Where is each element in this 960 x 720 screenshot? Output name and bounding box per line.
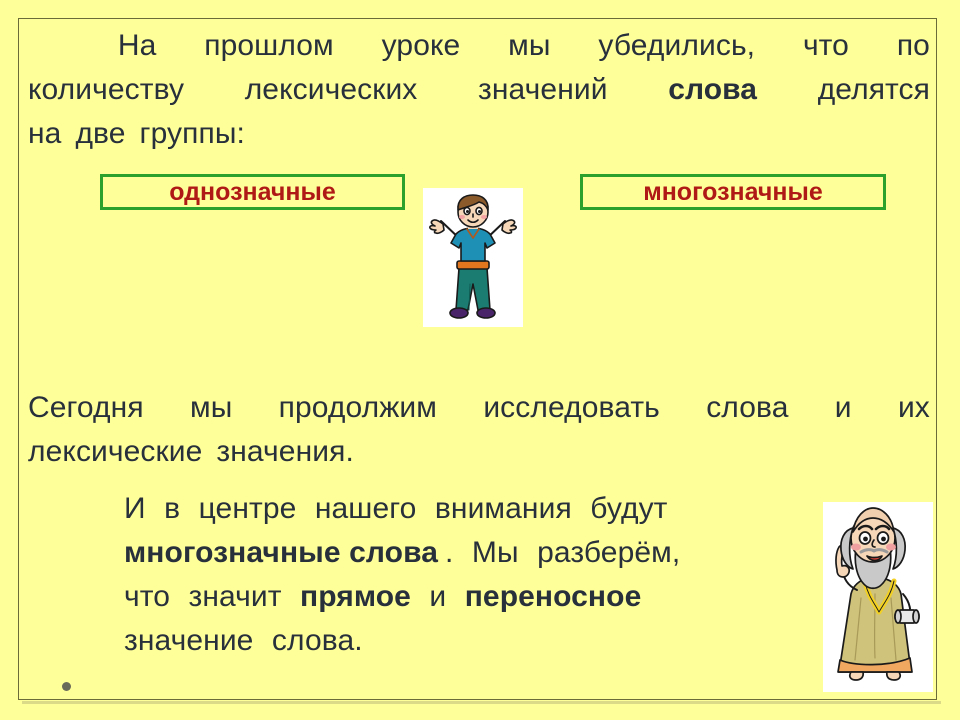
word: прошлом — [204, 24, 334, 68]
focus-line-3: что значит прямое и переносное — [124, 575, 814, 619]
intro-paragraph: На прошлом уроке мы убедились, что по ко… — [28, 24, 930, 156]
today-paragraph: Сегодня мы продолжим исследовать слова и… — [28, 386, 930, 474]
word: и — [835, 386, 852, 430]
word: будут — [590, 492, 667, 525]
keyword-perenosnoe: переносное — [465, 580, 642, 613]
greek-philosopher-illustration — [823, 502, 933, 692]
word: слова — [706, 386, 788, 430]
word: уроке — [382, 24, 461, 68]
word: и — [429, 580, 446, 613]
word: по — [897, 24, 930, 68]
keyword-mnogoznachnye-slova: многозначные слова — [124, 536, 438, 569]
word: две — [75, 112, 125, 156]
intro-line-2: количеству лексических значений слова де… — [28, 68, 930, 112]
word: мы — [508, 24, 550, 68]
word: значений — [478, 68, 608, 112]
term-box-odnoznachnye[interactable]: однозначные — [100, 174, 405, 210]
word: значения. — [216, 430, 353, 474]
word: слова. — [272, 624, 363, 657]
focus-line-2: многозначные слова. Мы разберём, — [124, 531, 814, 575]
today-line-2: лексические значения. — [28, 430, 930, 474]
bullet-dot — [62, 682, 71, 691]
first-line-indent — [28, 24, 70, 68]
word: внимания — [435, 492, 572, 525]
slide: На прошлом уроке мы убедились, что по ко… — [0, 0, 960, 720]
word: убедились, — [598, 24, 755, 68]
word: лексических — [245, 68, 418, 112]
intro-line-3: на две группы: — [28, 112, 930, 156]
word: Мы — [472, 536, 519, 569]
slide-frame-shadow — [22, 701, 941, 704]
word: исследовать — [483, 386, 660, 430]
word: центре — [199, 492, 297, 525]
word: в — [164, 492, 180, 525]
focus-line-1: И в центре нашего внимания будут — [124, 487, 814, 531]
word: Сегодня — [28, 386, 144, 430]
word: значит — [188, 580, 281, 613]
word: что — [803, 24, 849, 68]
word: И — [124, 492, 146, 525]
period: . — [445, 536, 453, 569]
word: значение — [124, 624, 253, 657]
word: На — [118, 24, 157, 68]
word: группы: — [140, 112, 245, 156]
focus-line-4: значение слова. — [124, 619, 814, 663]
word: количеству — [28, 68, 184, 112]
word: продолжим — [279, 386, 437, 430]
today-line-1: Сегодня мы продолжим исследовать слова и… — [28, 386, 930, 430]
word: что — [124, 580, 170, 613]
keyword-pryamoe: прямое — [300, 580, 411, 613]
word: мы — [190, 386, 232, 430]
boy-with-raised-arms-illustration — [423, 188, 523, 327]
word: нашего — [315, 492, 417, 525]
word: лексические — [28, 430, 202, 474]
intro-line-1: На прошлом уроке мы убедились, что по — [28, 24, 930, 68]
keyword-slova: слова — [668, 68, 757, 112]
focus-paragraph: И в центре нашего внимания будут многозн… — [124, 487, 814, 663]
term-box-mnogoznachnye[interactable]: многозначные — [580, 174, 886, 210]
word: делятся — [818, 68, 930, 112]
word: их — [898, 386, 930, 430]
word: разберём, — [537, 536, 680, 569]
word: на — [28, 112, 61, 156]
